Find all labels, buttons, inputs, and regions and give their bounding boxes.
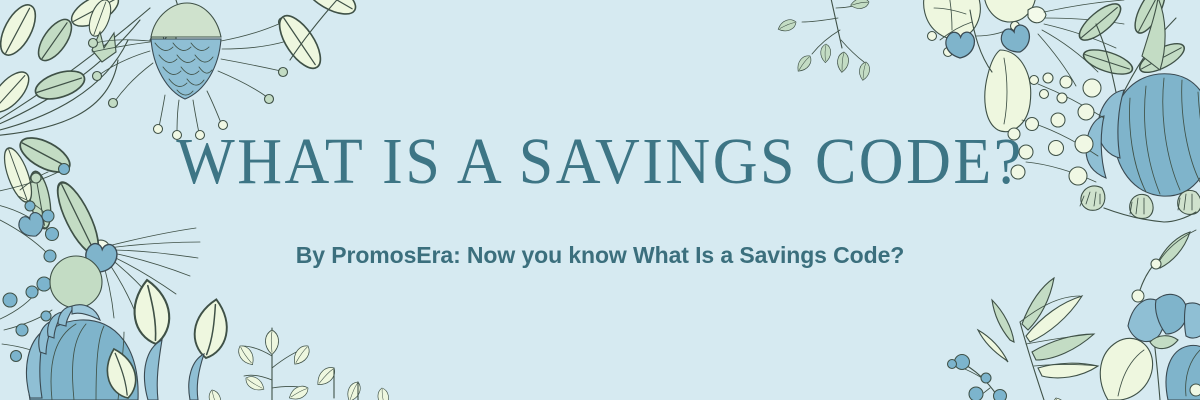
- promotional-banner: .ln{fill:none;stroke:#3f5147;stroke-widt…: [0, 0, 1200, 400]
- floral-decoration-art: .ln{fill:none;stroke:#3f5147;stroke-widt…: [0, 0, 1200, 400]
